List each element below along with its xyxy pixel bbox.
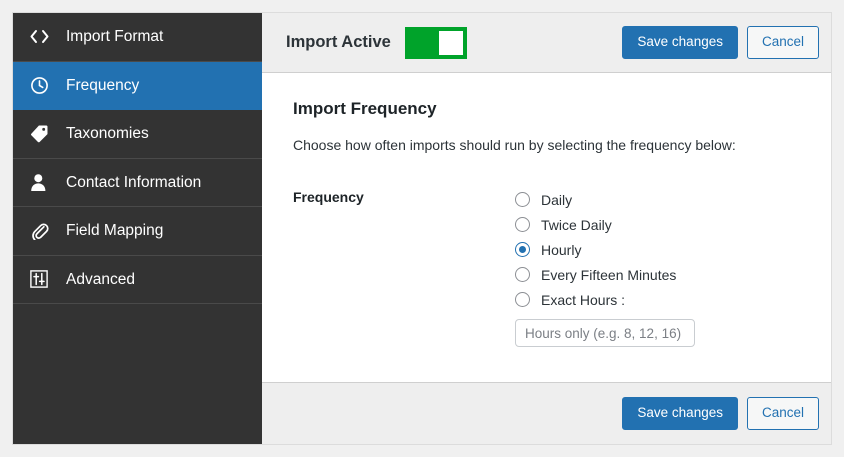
radio-label: Hourly — [541, 242, 581, 258]
radio-option-exact-hours[interactable]: Exact Hours : — [515, 287, 695, 312]
sidebar-item-label: Contact Information — [66, 175, 201, 191]
radio-indicator[interactable] — [515, 217, 530, 232]
sidebar-item-label: Field Mapping — [66, 223, 163, 239]
radio-indicator[interactable] — [515, 192, 530, 207]
radio-indicator-selected[interactable] — [515, 242, 530, 257]
save-changes-button-top[interactable]: Save changes — [622, 26, 738, 59]
frequency-field-row: Frequency Daily Twice Daily Hourly — [293, 187, 807, 347]
page-title: Import Frequency — [293, 99, 807, 119]
import-active-label: Import Active — [286, 33, 391, 52]
tag-icon — [30, 124, 56, 143]
radio-label: Daily — [541, 192, 572, 208]
main-content: Import Frequency Choose how often import… — [262, 73, 831, 382]
sidebar-item-frequency[interactable]: Frequency — [13, 62, 262, 111]
sidebar-item-label: Import Format — [66, 29, 163, 45]
radio-label: Twice Daily — [541, 217, 612, 233]
cancel-button-bottom[interactable]: Cancel — [747, 397, 819, 430]
paperclip-icon — [30, 221, 56, 240]
radio-indicator[interactable] — [515, 267, 530, 282]
settings-panel: Import Format Frequency Taxonomies — [12, 12, 832, 445]
cancel-button-top[interactable]: Cancel — [747, 26, 819, 59]
sidebar-item-label: Taxonomies — [66, 126, 149, 142]
footer-toolbar: Save changes Cancel — [262, 382, 831, 444]
frequency-field-label: Frequency — [293, 187, 515, 205]
radio-indicator[interactable] — [515, 292, 530, 307]
sidebar-item-contact-information[interactable]: Contact Information — [13, 159, 262, 208]
radio-label: Exact Hours : — [541, 292, 625, 308]
sidebar-item-label: Advanced — [66, 272, 135, 288]
radio-option-hourly[interactable]: Hourly — [515, 237, 695, 262]
sidebar-item-import-format[interactable]: Import Format — [13, 13, 262, 62]
code-brackets-icon — [30, 29, 56, 44]
clock-icon — [30, 76, 56, 95]
toggle-knob — [439, 31, 463, 55]
page-description: Choose how often imports should run by s… — [293, 137, 807, 153]
exact-hours-input[interactable] — [515, 319, 695, 347]
sidebar-item-label: Frequency — [66, 78, 139, 94]
sidebar-item-field-mapping[interactable]: Field Mapping — [13, 207, 262, 256]
sidebar-nav: Import Format Frequency Taxonomies — [13, 13, 262, 444]
sliders-icon — [30, 270, 56, 288]
radio-option-daily[interactable]: Daily — [515, 187, 695, 212]
radio-option-every-fifteen-minutes[interactable]: Every Fifteen Minutes — [515, 262, 695, 287]
sidebar-item-advanced[interactable]: Advanced — [13, 256, 262, 305]
sidebar-item-taxonomies[interactable]: Taxonomies — [13, 110, 262, 159]
content-area: Import Active Save changes Cancel Import… — [262, 13, 831, 444]
person-icon — [30, 173, 56, 192]
import-active-toggle[interactable] — [405, 27, 467, 59]
frequency-radio-group: Daily Twice Daily Hourly Every Fifteen M… — [515, 187, 695, 347]
radio-label: Every Fifteen Minutes — [541, 267, 676, 283]
save-changes-button-bottom[interactable]: Save changes — [622, 397, 738, 430]
radio-option-twice-daily[interactable]: Twice Daily — [515, 212, 695, 237]
header-toolbar: Import Active Save changes Cancel — [262, 13, 831, 73]
